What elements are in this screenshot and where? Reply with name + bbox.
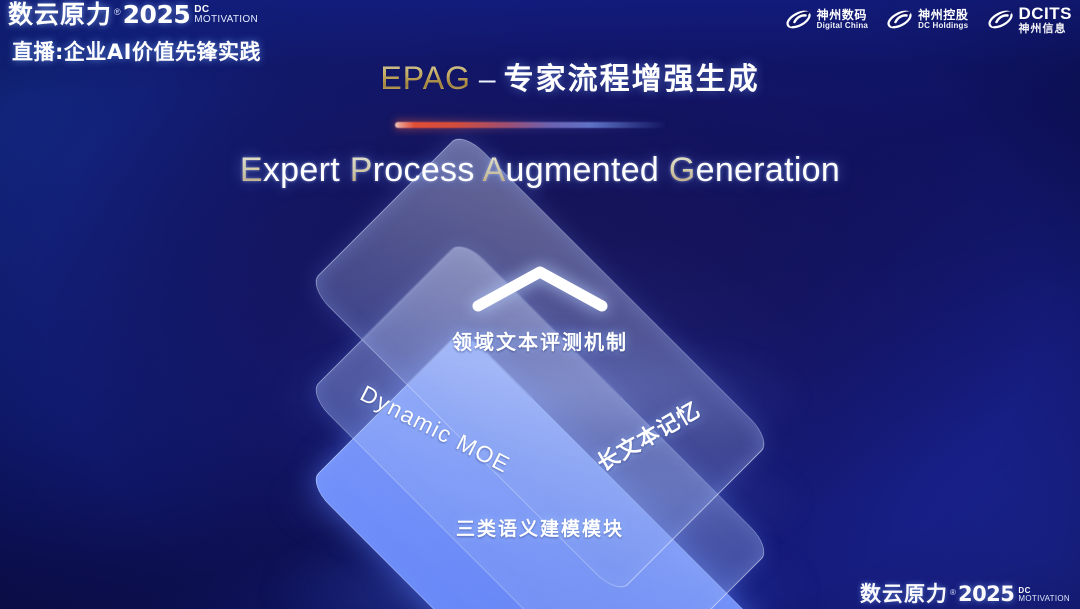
brand-year: 2025 bbox=[123, 2, 191, 27]
partner-logo-text: 神州控股 DC Holdings bbox=[918, 9, 968, 30]
partner-logo-dc-holdings: 神州控股 DC Holdings bbox=[886, 7, 968, 32]
subtitle-word-process: Process bbox=[350, 151, 475, 189]
subtitle-word-augmented: Augmented bbox=[483, 151, 660, 189]
subtitle-word-generation: Generation bbox=[669, 151, 840, 189]
partner-name-cn: 神州控股 bbox=[918, 9, 968, 22]
partner-logo-text: DCITS 神州信息 bbox=[1019, 5, 1073, 34]
brand-name-cn: 数云原力 bbox=[8, 2, 112, 27]
watermark-dc-motivation: DC MOTIVATION bbox=[1018, 587, 1070, 603]
swirl-icon bbox=[785, 7, 812, 32]
watermark-motivation-label: MOTIVATION bbox=[1018, 595, 1070, 603]
swirl-icon bbox=[886, 7, 913, 32]
subtitle-cap-g: G bbox=[669, 151, 696, 189]
brand-dc-motivation: DC MOTIVATION bbox=[194, 5, 258, 25]
partner-name-cn: DCITS bbox=[1019, 5, 1073, 23]
watermark-year: 2025 bbox=[958, 584, 1014, 605]
watermark-lockup: 数云原力 ® 2025 DC MOTIVATION bbox=[860, 584, 1070, 605]
partner-name-en: Digital China bbox=[817, 22, 869, 30]
brand-lockup: 数云原力 ® 2025 DC MOTIVATION bbox=[8, 2, 261, 27]
registered-mark: ® bbox=[114, 8, 121, 17]
chevron-up-icon bbox=[468, 260, 612, 316]
partner-logo-text: 神州数码 Digital China bbox=[817, 9, 869, 30]
partner-name-en: DC Holdings bbox=[918, 22, 968, 30]
partner-logo-bar: 神州数码 Digital China 神州控股 DC Holdings bbox=[785, 5, 1072, 34]
brand-watermark-bottom-right: 数云原力 ® 2025 DC MOTIVATION bbox=[860, 584, 1070, 605]
title-dash: – bbox=[479, 63, 496, 96]
swirl-icon bbox=[987, 7, 1014, 32]
brand-logo-top-left: 数云原力 ® 2025 DC MOTIVATION 直播:企业AI价值先锋实践 bbox=[8, 2, 261, 66]
page-subtitle: Expert Process Augmented Generation bbox=[0, 151, 1080, 190]
brand-motivation-label: MOTIVATION bbox=[194, 15, 258, 25]
live-broadcast-title: 直播:企业AI价值先锋实践 bbox=[12, 36, 261, 66]
partner-name-en: 神州信息 bbox=[1019, 23, 1073, 35]
subtitle-rest-augmented: ugmented bbox=[506, 151, 660, 189]
layer-label-bottom: 三类语义建模模块 bbox=[0, 514, 1080, 541]
layer-label-top: 领域文本评测机制 bbox=[0, 326, 1080, 355]
subtitle-rest-expert: xpert bbox=[263, 151, 340, 189]
subtitle-cap-p: P bbox=[350, 151, 373, 189]
subtitle-rest-process: rocess bbox=[373, 151, 475, 189]
layered-architecture-diagram: 领域文本评测机制 Dynamic MOE 长文本记忆 三类语义建模模块 bbox=[0, 214, 1080, 574]
subtitle-cap-a: A bbox=[483, 151, 506, 189]
subtitle-cap-e: E bbox=[240, 151, 263, 189]
partner-logo-digital-china: 神州数码 Digital China bbox=[785, 7, 869, 32]
slide-stage: 数云原力 ® 2025 DC MOTIVATION 直播:企业AI价值先锋实践 … bbox=[0, 0, 1080, 609]
partner-logo-dcits: DCITS 神州信息 bbox=[987, 5, 1073, 34]
subtitle-rest-generation: eneration bbox=[696, 151, 840, 189]
watermark-registered-mark: ® bbox=[950, 589, 956, 597]
watermark-name-cn: 数云原力 bbox=[860, 584, 948, 605]
title-chinese: 专家流程增强生成 bbox=[504, 62, 760, 97]
subtitle-word-expert: Expert bbox=[240, 151, 340, 189]
title-acronym: EPAG bbox=[380, 60, 471, 96]
title-divider bbox=[395, 122, 667, 128]
partner-name-cn: 神州数码 bbox=[817, 9, 869, 22]
